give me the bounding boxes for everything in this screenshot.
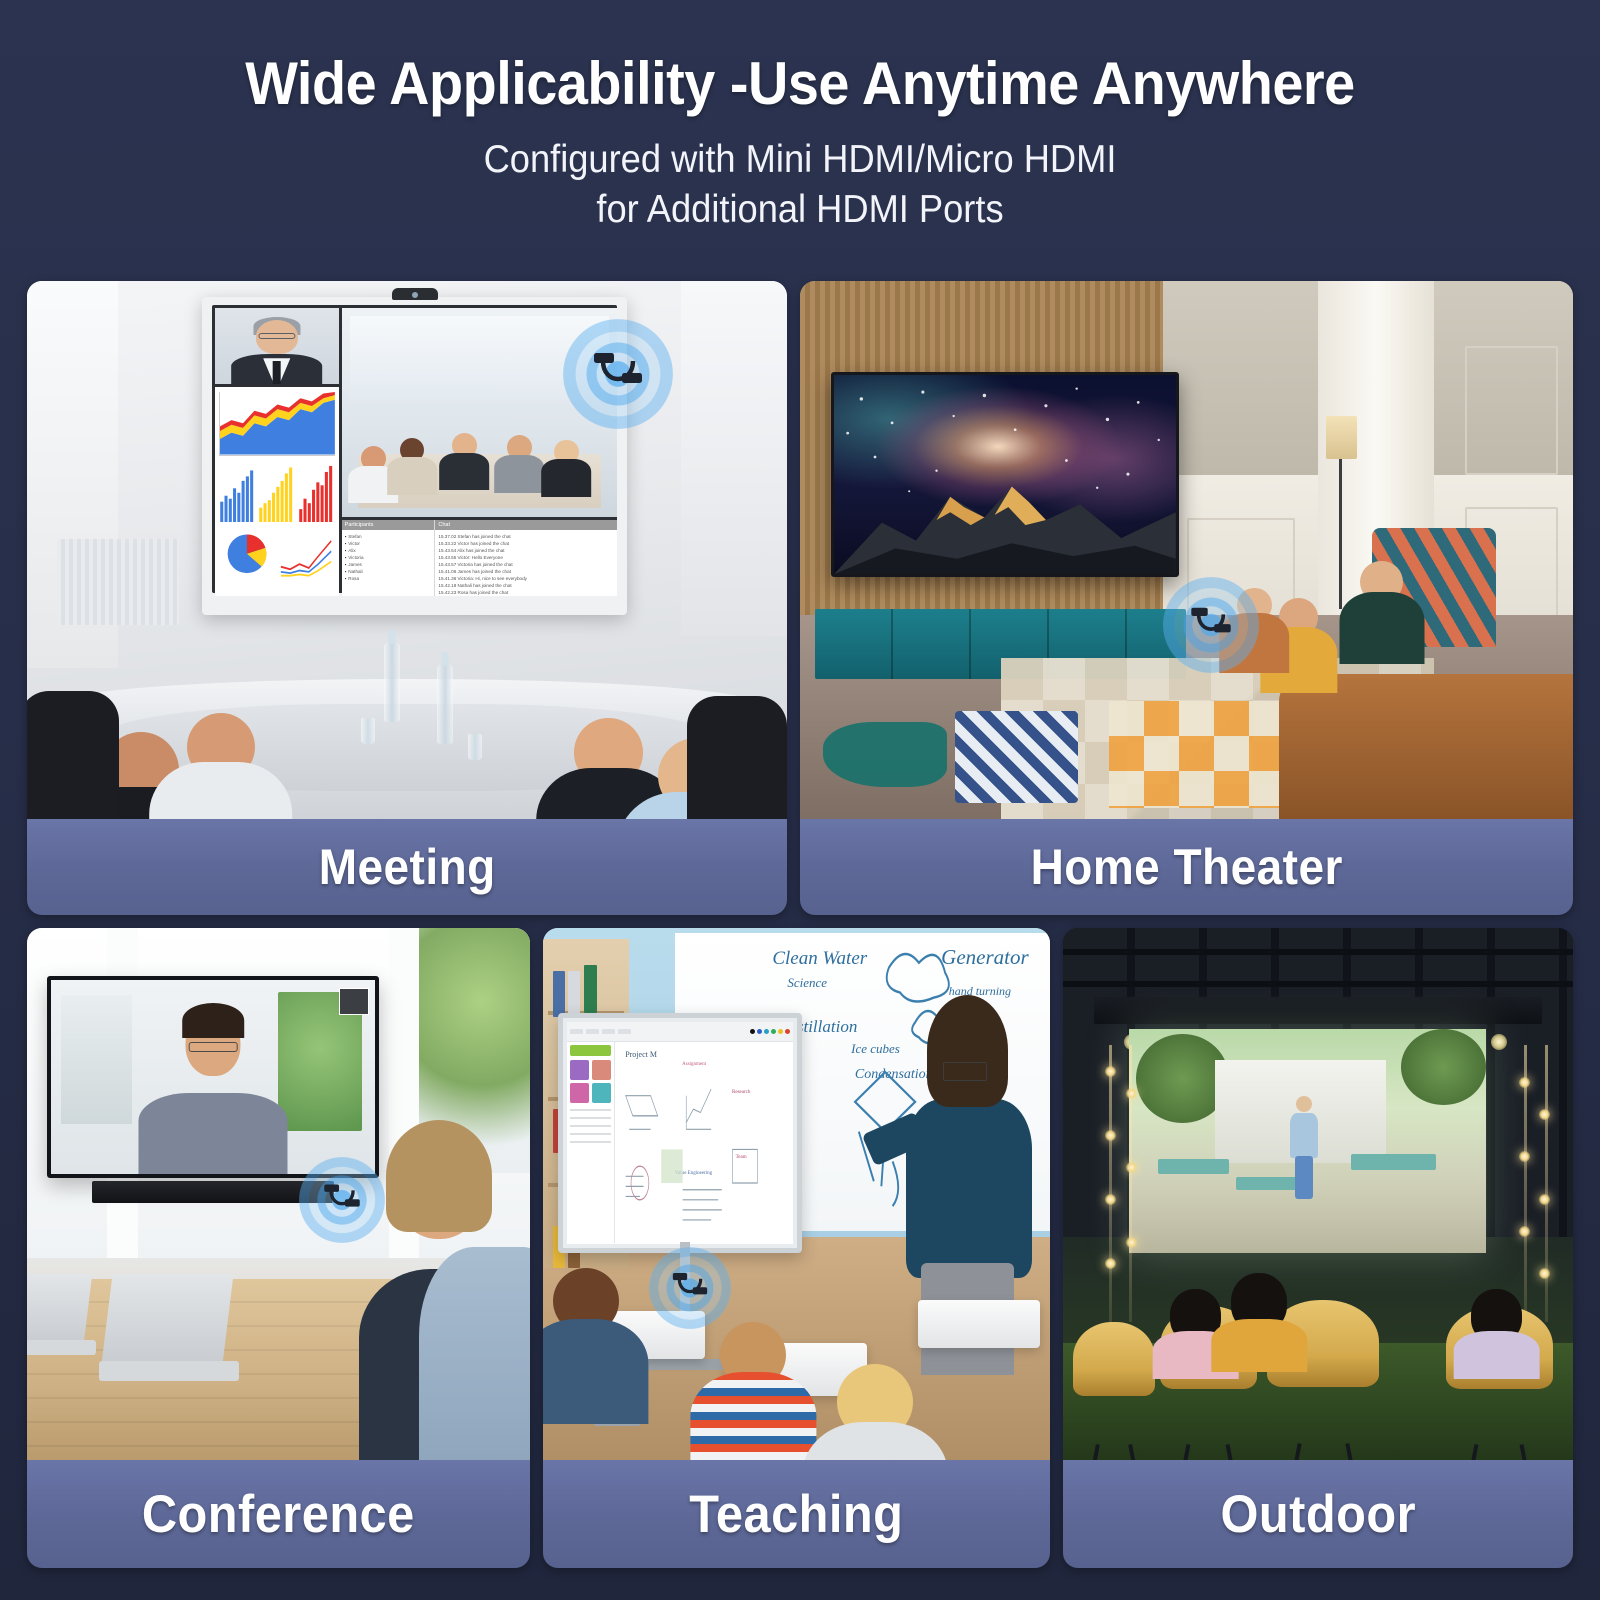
student-3 bbox=[837, 1364, 913, 1440]
list-item: Stefan bbox=[345, 533, 432, 540]
laptop bbox=[27, 1274, 87, 1343]
teal-blanket bbox=[823, 722, 947, 787]
hdmi-adapter-icon bbox=[649, 1247, 731, 1329]
card-label-meeting: Meeting bbox=[27, 819, 787, 915]
sidebar-tiles bbox=[570, 1060, 610, 1103]
viewer-adult bbox=[1360, 561, 1403, 604]
bar-chart-group bbox=[219, 463, 335, 523]
projected-person bbox=[1290, 1096, 1319, 1199]
stacked-area-chart bbox=[219, 392, 335, 455]
video-attendee-2 bbox=[400, 438, 425, 463]
caller-glasses-icon bbox=[189, 1042, 238, 1052]
display-camera-icon bbox=[392, 288, 438, 300]
participants-and-chat-panel: Participants Stefan Victor Alix Victoria… bbox=[342, 520, 618, 596]
caller-torso bbox=[139, 1093, 288, 1175]
use-case-card-conference[interactable]: Conference bbox=[27, 928, 530, 1568]
radiator-left bbox=[57, 539, 179, 625]
header: Wide Applicability -Use Anytime Anywhere… bbox=[0, 0, 1600, 235]
picture-in-picture-tile bbox=[339, 988, 368, 1015]
presenter-tie bbox=[272, 361, 281, 384]
attendee-right-1 bbox=[574, 718, 642, 786]
chat-message-list: 15.37.02 Stefan has joined the chat 15.3… bbox=[435, 530, 617, 596]
string-light-strand bbox=[1129, 1045, 1132, 1322]
projected-table bbox=[1158, 1159, 1229, 1175]
drinking-glass bbox=[361, 718, 375, 744]
conference-photo bbox=[27, 928, 530, 1460]
card-label-teaching: Teaching bbox=[543, 1460, 1050, 1568]
chat-panel: Chat 15.37.02 Stefan has joined the chat… bbox=[435, 520, 617, 596]
interactive-flat-panel: Project M Assignment Research Value Engi… bbox=[558, 1013, 801, 1252]
display-screen: Participants Stefan Victor Alix Victoria… bbox=[212, 305, 618, 592]
sidebar-highlight bbox=[570, 1045, 610, 1056]
string-light-strand bbox=[1109, 1045, 1112, 1322]
list-item: Victor bbox=[345, 540, 432, 547]
caller-hair bbox=[182, 1003, 244, 1038]
use-case-card-outdoor[interactable]: Outdoor bbox=[1063, 928, 1573, 1568]
grid-row-1: Participants Stefan Victor Alix Victoria… bbox=[27, 281, 1573, 915]
student-2 bbox=[720, 1322, 786, 1388]
panel-toolbar[interactable] bbox=[567, 1022, 792, 1042]
card-label-home-theater: Home Theater bbox=[800, 819, 1573, 915]
office-chair bbox=[27, 691, 119, 819]
use-case-card-teaching[interactable]: Clean Water Science Distillation Ice cub… bbox=[543, 928, 1050, 1568]
panel-screen: Project M Assignment Research Value Engi… bbox=[567, 1022, 792, 1243]
list-item: 15.41.36 Victoria: Hi, nice to see every… bbox=[438, 575, 614, 582]
wall-right bbox=[681, 281, 787, 636]
book bbox=[568, 971, 580, 1017]
page-subtitle: Configured with Mini HDMI/Micro HDMI for… bbox=[56, 135, 1544, 235]
string-light-bulb bbox=[1519, 1226, 1530, 1237]
student-1 bbox=[553, 1268, 619, 1334]
list-item: Alix bbox=[345, 547, 432, 554]
wall-mounted-tv bbox=[831, 372, 1179, 576]
floor-lamp-shade bbox=[1326, 416, 1357, 459]
chat-header: Chat bbox=[435, 520, 617, 530]
card-label-conference: Conference bbox=[27, 1460, 530, 1568]
subtitle-line-1: Configured with Mini HDMI/Micro HDMI bbox=[56, 135, 1544, 185]
outdoor-photo bbox=[1063, 928, 1573, 1460]
lower-chart-group bbox=[219, 528, 335, 580]
list-item: 15.42.23 Rosa has joined the chat bbox=[438, 589, 614, 595]
page-title: Wide Applicability -Use Anytime Anywhere bbox=[56, 52, 1544, 115]
subtitle-line-2: for Additional HDMI Ports bbox=[56, 185, 1544, 235]
camping-chair bbox=[1073, 1322, 1155, 1450]
remote-presenter-tile bbox=[215, 308, 339, 384]
home-theater-photo bbox=[800, 281, 1573, 819]
video-attendee-3 bbox=[452, 433, 477, 458]
string-light-bulb bbox=[1539, 1268, 1550, 1279]
book bbox=[584, 965, 597, 1013]
sidebar-lines bbox=[570, 1109, 610, 1143]
string-light-bulb bbox=[1539, 1109, 1550, 1120]
wall-panel bbox=[1465, 346, 1558, 475]
beam bbox=[1063, 949, 1573, 955]
string-light-bulb bbox=[1126, 1237, 1137, 1248]
video-attendee-4 bbox=[507, 435, 532, 460]
list-item: 15.33.22 Victor has joined the chat bbox=[438, 540, 614, 547]
water-bottle bbox=[384, 642, 400, 722]
floor-lamp-stem bbox=[1339, 459, 1342, 610]
wall-tv-display bbox=[47, 976, 379, 1178]
presenter-glasses-icon bbox=[258, 333, 295, 338]
video-attendee-5 bbox=[554, 440, 579, 465]
line-chart bbox=[279, 528, 335, 580]
list-item: 15.37.02 Stefan has joined the chat bbox=[438, 533, 614, 540]
projected-table bbox=[1351, 1154, 1437, 1170]
meeting-photo: Participants Stefan Victor Alix Victoria… bbox=[27, 281, 787, 819]
bar-chart-yellow bbox=[258, 463, 295, 523]
participants-panel: Participants Stefan Victor Alix Victoria… bbox=[342, 520, 436, 596]
use-case-card-home-theater[interactable]: Home Theater bbox=[800, 281, 1573, 915]
light-rig bbox=[1094, 997, 1543, 1024]
pie-chart bbox=[219, 528, 275, 580]
participants-list: Stefan Victor Alix Victoria James Nathal… bbox=[342, 530, 435, 586]
teaching-photo: Clean Water Science Distillation Ice cub… bbox=[543, 928, 1050, 1460]
string-light-strand bbox=[1545, 1045, 1548, 1322]
string-light-bulb bbox=[1105, 1258, 1116, 1269]
drinking-glass bbox=[468, 734, 482, 760]
string-light-bulb bbox=[1126, 1088, 1137, 1099]
laptop bbox=[107, 1274, 228, 1364]
list-item: 15.42.18 Nathali has joined the chat bbox=[438, 582, 614, 589]
list-item: 15.43.57 Victoria has joined the chat bbox=[438, 561, 614, 568]
audience-member-2 bbox=[1231, 1273, 1287, 1332]
bar-chart-blue bbox=[219, 463, 256, 523]
call-bg-interior bbox=[61, 995, 132, 1123]
office-chair bbox=[687, 696, 787, 819]
attendee-left-2 bbox=[187, 713, 255, 781]
tv-galaxy-image bbox=[834, 375, 1176, 573]
list-item: 15.41.06 James has joined the chat bbox=[438, 568, 614, 575]
string-light-bulb bbox=[1126, 1162, 1137, 1173]
color-palette[interactable] bbox=[750, 1029, 790, 1034]
participants-header: Participants bbox=[342, 520, 435, 530]
student-desk bbox=[918, 1300, 1040, 1348]
video-attendee-1 bbox=[361, 446, 386, 471]
card-label-outdoor: Outdoor bbox=[1063, 1460, 1573, 1568]
hdmi-adapter-icon bbox=[563, 319, 673, 429]
seated-colleague bbox=[419, 1247, 530, 1460]
hdmi-adapter-icon bbox=[1163, 577, 1259, 673]
list-item: Victoria bbox=[345, 554, 432, 561]
beam bbox=[1063, 981, 1573, 987]
patterned-ottoman bbox=[955, 711, 1079, 802]
string-light-bulb bbox=[1519, 1077, 1530, 1088]
use-case-grid: Participants Stefan Victor Alix Victoria… bbox=[27, 281, 1573, 1568]
list-item: 15.43.55 Victor: Hello Everyone bbox=[438, 554, 614, 561]
book bbox=[553, 971, 565, 1017]
audience-member-3 bbox=[1471, 1289, 1522, 1343]
list-item: Rosa bbox=[345, 575, 432, 582]
soundbar bbox=[92, 1181, 333, 1203]
panel-canvas: Project M Assignment Research Value Engi… bbox=[615, 1042, 793, 1243]
panel-sidebar bbox=[567, 1042, 614, 1243]
projection-screen bbox=[1129, 1029, 1486, 1252]
shared-charts-panel bbox=[215, 387, 339, 595]
use-case-card-meeting[interactable]: Participants Stefan Victor Alix Victoria… bbox=[27, 281, 787, 915]
leather-sofa bbox=[1279, 674, 1573, 819]
water-bottle bbox=[437, 664, 453, 744]
bar-chart-red bbox=[298, 463, 335, 523]
list-item: Nathali bbox=[345, 568, 432, 575]
list-item: James bbox=[345, 561, 432, 568]
grid-row-2: Conference Clean Wate bbox=[27, 928, 1573, 1568]
hdmi-adapter-icon bbox=[299, 1157, 385, 1243]
string-light-bulb bbox=[1539, 1194, 1550, 1205]
list-item: 15.43.54 Alix has joined the chat bbox=[438, 547, 614, 554]
projected-tree bbox=[1401, 1029, 1487, 1105]
